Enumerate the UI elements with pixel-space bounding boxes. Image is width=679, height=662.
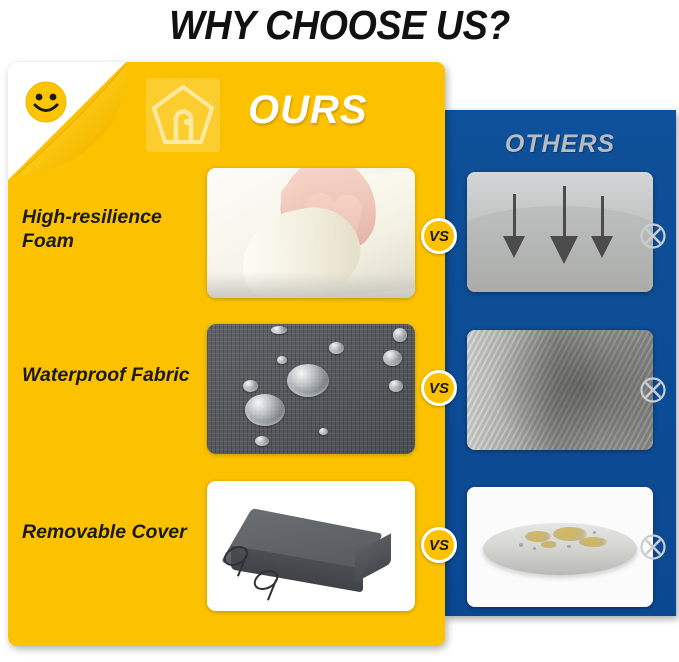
circled-x-icon-1 bbox=[639, 222, 667, 250]
others-image-2 bbox=[467, 330, 653, 450]
pentagon-house-icon bbox=[146, 78, 220, 152]
ours-image-3 bbox=[207, 481, 415, 611]
circled-x-icon-2 bbox=[639, 376, 667, 404]
others-image-1 bbox=[467, 172, 653, 292]
circled-x-icon-3 bbox=[639, 533, 667, 561]
others-image-3 bbox=[467, 487, 653, 607]
feature-label-2: Waterproof Fabric bbox=[22, 364, 202, 388]
ours-image-2 bbox=[207, 324, 415, 454]
ours-image-1 bbox=[207, 168, 415, 298]
feature-label-3: Removable Cover bbox=[22, 521, 202, 545]
feature-label-1: High-resilience Foam bbox=[22, 206, 202, 254]
vs-badge-3: VS bbox=[421, 527, 457, 563]
vs-badge-2: VS bbox=[421, 370, 457, 406]
page-title: WHY CHOOSE US? bbox=[27, 2, 652, 49]
smiley-face-icon bbox=[24, 80, 68, 124]
ours-title: OURS bbox=[248, 88, 368, 133]
others-title: OTHERS bbox=[444, 130, 676, 159]
vs-badge-1: VS bbox=[421, 218, 457, 254]
